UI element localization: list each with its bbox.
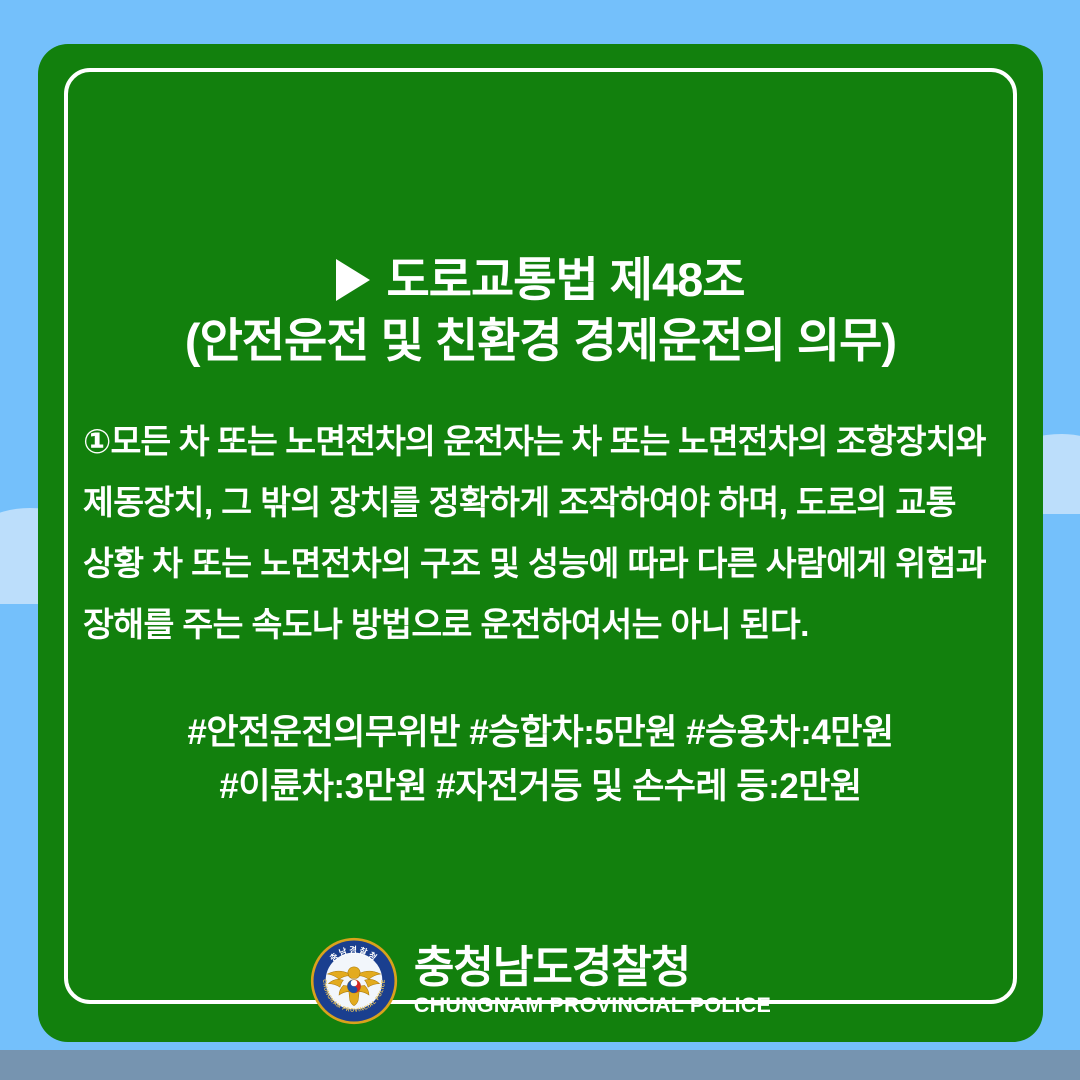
play-triangle-icon xyxy=(336,259,370,301)
law-body-block: ①모든 차 또는 노면전차의 운전자는 차 또는 노면전차의 조항장치와 제동장… xyxy=(83,412,998,656)
law-body-line: 상황 차 또는 노면전차의 구조 및 성능에 따라 다른 사람에게 위험과 xyxy=(83,534,998,595)
law-title: 도로교통법 제48조 xyxy=(386,249,744,310)
police-logo: 충남경찰청 CHUNGNAM PROVINCIAL POLICE xyxy=(38,937,1043,1025)
hashtag-line: #안전운전의무위반 #승합차:5만원 #승용차:4만원 xyxy=(38,706,1043,760)
law-body-line: 제동장치, 그 밖의 장치를 정확하게 조작하여야 하며, 도로의 교통 xyxy=(83,473,998,534)
ground-strip xyxy=(0,1050,1080,1080)
police-emblem-icon: 충남경찰청 CHUNGNAM PROVINCIAL POLICE xyxy=(310,937,398,1025)
title-line-1: 도로교통법 제48조 xyxy=(38,249,1043,310)
law-subtitle: (안전운전 및 친환경 경제운전의 의무) xyxy=(38,310,1043,371)
logo-text-block: 충청남도경찰청 CHUNGNAM PROVINCIAL POLICE xyxy=(414,946,771,1017)
hashtag-block: #안전운전의무위반 #승합차:5만원 #승용차:4만원 #이륜차:3만원 #자전… xyxy=(38,706,1043,814)
card-content: 도로교통법 제48조 (안전운전 및 친환경 경제운전의 의무) ①모든 차 또… xyxy=(38,44,1043,1042)
hashtag-line: #이륜차:3만원 #자전거등 및 손수레 등:2만원 xyxy=(38,760,1043,814)
logo-name-korean: 충청남도경찰청 xyxy=(414,946,690,990)
logo-name-english: CHUNGNAM PROVINCIAL POLICE xyxy=(414,995,771,1017)
law-body-line: 장해를 주는 속도나 방법으로 운전하여서는 아니 된다. xyxy=(83,595,998,656)
title-block: 도로교통법 제48조 (안전운전 및 친환경 경제운전의 의무) xyxy=(38,249,1043,371)
law-body-line: ①모든 차 또는 노면전차의 운전자는 차 또는 노면전차의 조항장치와 xyxy=(83,412,998,473)
info-card: 도로교통법 제48조 (안전운전 및 친환경 경제운전의 의무) ①모든 차 또… xyxy=(38,44,1043,1042)
